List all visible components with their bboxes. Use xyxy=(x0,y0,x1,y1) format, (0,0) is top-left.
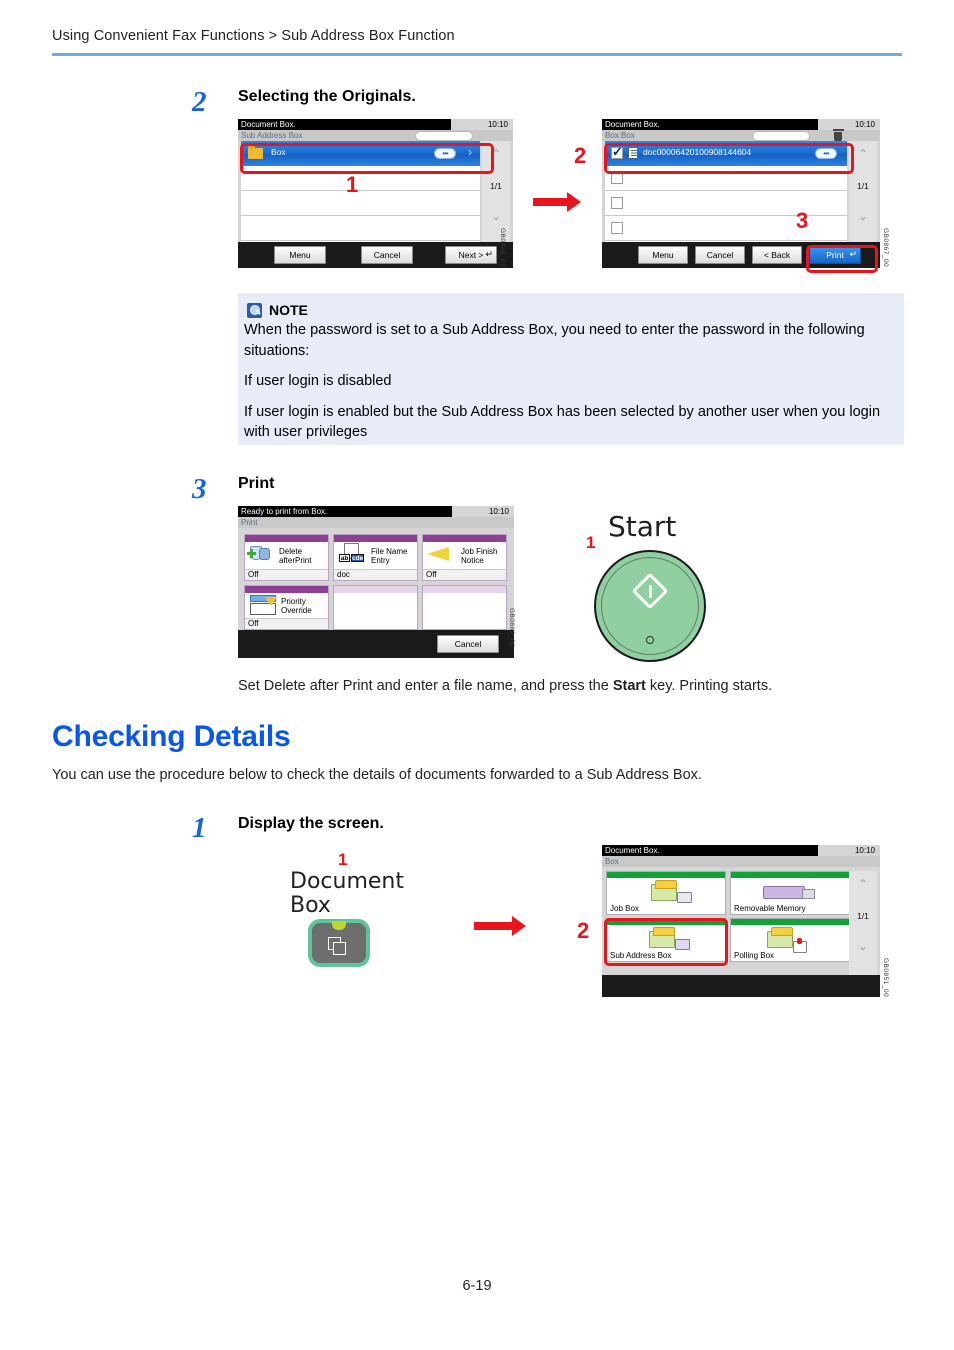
breadcrumb: Using Convenient Fax Functions > Sub Add… xyxy=(52,28,902,44)
function-key-delete-after-print[interactable]: Delete afterPrint Off xyxy=(244,534,329,581)
list-item[interactable] xyxy=(241,166,480,191)
checkbox-checked[interactable] xyxy=(611,147,623,159)
figure-code: GB0866_01 xyxy=(499,228,506,267)
job-box-icon xyxy=(651,884,677,901)
list-item-box-selected[interactable]: Box ••• › xyxy=(241,141,480,166)
page-indicator: 1/1 xyxy=(849,911,877,921)
tile-accent-bar xyxy=(607,872,725,878)
header-rule xyxy=(52,53,902,56)
fk-value: Off xyxy=(423,569,506,580)
note-info-icon xyxy=(247,303,262,318)
panel-clock: 10:10 xyxy=(451,119,513,130)
list-item-label: doc00006420100908144604 xyxy=(643,147,751,157)
panel-title-text: Document Box. xyxy=(605,120,660,129)
job-finish-notice-icon xyxy=(427,547,449,561)
list-item[interactable] xyxy=(241,191,480,216)
callout-number-3: 3 xyxy=(796,208,808,234)
step-number-3: 3 xyxy=(192,473,207,506)
panel-button-bar xyxy=(602,975,880,997)
figure-code: GB0851_00 xyxy=(882,958,889,997)
callout-number-1: 1 xyxy=(346,172,358,198)
next-button[interactable]: Next > ↵ xyxy=(445,246,497,264)
after-print-bold: Start xyxy=(613,678,646,694)
note-paragraph: If user login is enabled but the Sub Add… xyxy=(238,392,904,443)
scroll-column[interactable]: ⌃ 1/1 ⌄ xyxy=(482,141,510,242)
fk-label-line2: Override xyxy=(281,606,312,615)
page-header: Using Convenient Fax Functions > Sub Add… xyxy=(52,28,902,56)
enter-icon: ↵ xyxy=(485,246,493,263)
panel-print-settings[interactable]: Ready to print from Box. 10:10 Print Del… xyxy=(238,506,514,658)
panel-box-menu[interactable]: Document Box. 10:10 Box Job Box Removabl… xyxy=(602,845,880,997)
function-key-empty[interactable] xyxy=(422,585,507,630)
step-title-3: Print xyxy=(238,475,274,493)
ab-key-icon: ab xyxy=(339,554,350,562)
list-item[interactable] xyxy=(605,166,847,191)
list-item-label: Box xyxy=(271,147,286,157)
cancel-button[interactable]: Cancel xyxy=(437,635,499,653)
section-intro: You can use the procedure below to check… xyxy=(52,765,902,786)
step-title-1: Display the screen. xyxy=(238,815,384,833)
after-print-text-2: key. Printing starts. xyxy=(646,678,772,694)
step-number-2: 2 xyxy=(192,86,207,119)
fk-label-line1: File Name xyxy=(371,547,407,556)
panel-document-list[interactable]: Document Box. 10:10 Box:Box doc000064201… xyxy=(602,119,880,268)
back-button[interactable]: < Back xyxy=(752,246,802,264)
start-key-label: Start xyxy=(608,510,676,543)
document-box-key-label-line1: Document xyxy=(290,870,404,894)
tile-label: Sub Address Box xyxy=(610,951,671,960)
panel-subbar-text: Sub Address Box xyxy=(241,131,302,140)
note-paragraph: When the password is set to a Sub Addres… xyxy=(238,318,904,361)
callout-number-1-docbox: 1 xyxy=(338,850,347,870)
page-title: Checking Details xyxy=(52,720,291,754)
fk-accent-bar xyxy=(245,535,328,542)
panel-button-bar: Menu Cancel Next > ↵ xyxy=(238,242,513,268)
tile-label: Polling Box xyxy=(734,951,774,960)
tile-job-box[interactable]: Job Box xyxy=(606,871,726,915)
enter-icon: ↵ xyxy=(849,246,857,263)
panel-clock: 10:10 xyxy=(452,506,514,517)
pin-icon xyxy=(793,941,807,953)
panel-subbar-text: Print xyxy=(241,518,257,527)
fk-accent-bar xyxy=(334,586,417,593)
scroll-down-icon[interactable]: ⌄ xyxy=(849,209,877,223)
scroll-column[interactable]: ⌃ 1/1 ⌄ xyxy=(849,871,877,975)
fk-label-line2: afterPrint xyxy=(279,556,311,565)
panel-subbar-text: Box xyxy=(605,857,619,866)
note-title: NOTE xyxy=(269,302,308,318)
scroll-down-icon[interactable]: ⌄ xyxy=(482,209,510,223)
trash-icon[interactable] xyxy=(834,132,842,141)
fk-label-line1: Job Finish xyxy=(461,547,497,556)
page-number: 6-19 xyxy=(0,1278,954,1294)
list-item[interactable] xyxy=(605,216,847,241)
panel-button-bar: Menu Cancel < Back Print ↵ xyxy=(602,242,880,268)
scroll-down-icon[interactable]: ⌄ xyxy=(849,939,877,953)
print-button[interactable]: Print ↵ xyxy=(809,246,861,264)
function-key-file-name-entry[interactable]: File Name Entry ab cde doc xyxy=(333,534,418,581)
start-key-illustration: Start xyxy=(586,506,766,666)
tile-sub-address-box[interactable]: Sub Address Box xyxy=(606,918,726,962)
folder-icon xyxy=(248,148,263,159)
panel-subbar: Print xyxy=(238,517,514,528)
panel-subbar: Box xyxy=(602,856,880,867)
fk-value: Off xyxy=(245,618,328,629)
document-box-icon xyxy=(328,937,350,957)
page-indicator: 1/1 xyxy=(849,181,877,191)
flow-arrow-icon xyxy=(533,192,581,212)
panel-subbar: Sub Address Box xyxy=(238,130,513,141)
panel-titlebar: Ready to print from Box. 10:10 xyxy=(238,506,514,517)
details-ellipsis-button[interactable]: ••• xyxy=(434,148,456,159)
panel-titlebar: Document Box. 10:10 xyxy=(238,119,513,130)
fk-accent-bar xyxy=(334,535,417,542)
polling-box-icon xyxy=(767,931,793,948)
fk-label-line2: Entry xyxy=(371,556,390,565)
next-button-label: Next > xyxy=(459,250,484,260)
panel-subbar: Box:Box xyxy=(602,130,880,141)
callout-number-2-docbox: 2 xyxy=(577,918,589,944)
cancel-button[interactable]: Cancel xyxy=(361,246,413,264)
chevron-right-icon: › xyxy=(468,146,472,159)
menu-button[interactable]: Menu xyxy=(274,246,326,264)
document-box-key-label-line2: Box xyxy=(290,894,404,918)
function-key-job-finish-notice[interactable]: Job Finish Notice Off xyxy=(422,534,507,581)
fk-accent-bar xyxy=(245,586,328,593)
tile-accent-bar xyxy=(731,919,849,925)
printer-mini-icon xyxy=(677,892,692,903)
step-title-2: Selecting the Originals. xyxy=(238,88,416,106)
checkbox[interactable] xyxy=(611,172,623,184)
function-key-empty[interactable] xyxy=(333,585,418,630)
tile-label: Job Box xyxy=(610,904,639,913)
panel-titlebar: Document Box. 10:10 xyxy=(602,845,880,856)
tile-label: Removable Memory xyxy=(734,904,806,913)
cde-key-icon: cde xyxy=(351,554,364,562)
panel-title-text: Document Box. xyxy=(605,846,660,855)
delete-after-print-icon-2 xyxy=(259,548,270,560)
panel-clock: 10:10 xyxy=(818,119,880,130)
fk-accent-bar xyxy=(423,535,506,542)
search-field[interactable] xyxy=(752,131,810,141)
fk-label-line1: Priority xyxy=(281,597,306,606)
fk-label-line2: Notice xyxy=(461,556,484,565)
note-paragraph: If user login is disabled xyxy=(238,361,904,392)
tile-accent-bar xyxy=(607,919,725,925)
fk-value: Off xyxy=(245,569,328,580)
page-indicator: 1/1 xyxy=(482,181,510,191)
cancel-button[interactable]: Cancel xyxy=(695,246,745,264)
tile-accent-bar xyxy=(731,872,849,878)
scroll-column[interactable]: ⌃ 1/1 ⌄ xyxy=(849,141,877,242)
details-ellipsis-button[interactable]: ••• xyxy=(815,148,837,159)
document-box-key-label: Document Box xyxy=(290,870,404,918)
box-list[interactable]: Box ••• › xyxy=(241,141,480,242)
scroll-up-icon[interactable]: ⌃ xyxy=(849,877,877,891)
checkbox[interactable] xyxy=(611,222,623,234)
priority-arrow-icon xyxy=(265,597,277,606)
figure-code: GB0867_00 xyxy=(882,228,889,267)
fk-value: doc xyxy=(334,569,417,580)
flow-arrow-icon xyxy=(474,916,528,936)
note-callout: NOTE When the password is set to a Sub A… xyxy=(238,293,904,445)
after-print-text-1: Set Delete after Print and enter a file … xyxy=(238,678,613,694)
note-header: NOTE xyxy=(238,293,904,318)
after-print-instruction: Set Delete after Print and enter a file … xyxy=(238,676,908,697)
start-bar-icon xyxy=(649,585,652,598)
sub-address-box-icon xyxy=(649,931,675,948)
list-item[interactable] xyxy=(241,216,480,241)
function-key-priority-override[interactable]: Priority Override Off xyxy=(244,585,329,630)
scroll-up-icon[interactable]: ⌃ xyxy=(849,147,877,161)
panel-subbar-text: Box:Box xyxy=(605,131,635,140)
tile-removable-memory[interactable]: Removable Memory xyxy=(730,871,850,915)
figure-code: GB0869_00 xyxy=(508,608,515,647)
callout-number-2: 2 xyxy=(574,143,586,169)
start-indicator-dot xyxy=(646,636,654,644)
list-item-document-selected[interactable]: doc00006420100908144604 ••• xyxy=(605,141,847,166)
callout-number-1-start: 1 xyxy=(586,533,595,553)
menu-button[interactable]: Menu xyxy=(638,246,688,264)
panel-clock: 10:10 xyxy=(818,845,880,856)
fax-mini-icon xyxy=(675,939,690,950)
document-box-hard-key[interactable] xyxy=(308,919,370,967)
step-number-1: 1 xyxy=(192,812,207,845)
panel-button-bar: Cancel xyxy=(238,630,514,658)
checkbox[interactable] xyxy=(611,197,623,209)
tile-polling-box[interactable]: Polling Box xyxy=(730,918,850,962)
search-field[interactable] xyxy=(415,131,473,141)
fk-accent-bar xyxy=(423,586,506,593)
removable-memory-icon xyxy=(763,886,805,899)
print-button-label: Print xyxy=(826,250,843,260)
list-item[interactable] xyxy=(605,191,847,216)
panel-title-text: Ready to print from Box. xyxy=(241,507,327,516)
document-list[interactable]: doc00006420100908144604 ••• xyxy=(605,141,847,242)
panel-title-text: Document Box. xyxy=(241,120,296,129)
plus-icon-v xyxy=(250,549,253,558)
panel-sub-address-box-list[interactable]: Document Box. 10:10 Sub Address Box Box … xyxy=(238,119,513,268)
scroll-up-icon[interactable]: ⌃ xyxy=(482,147,510,161)
start-key-button[interactable] xyxy=(594,550,706,662)
fk-label-line1: Delete xyxy=(279,547,302,556)
document-icon xyxy=(628,147,638,159)
key-led-indicator xyxy=(332,921,346,930)
